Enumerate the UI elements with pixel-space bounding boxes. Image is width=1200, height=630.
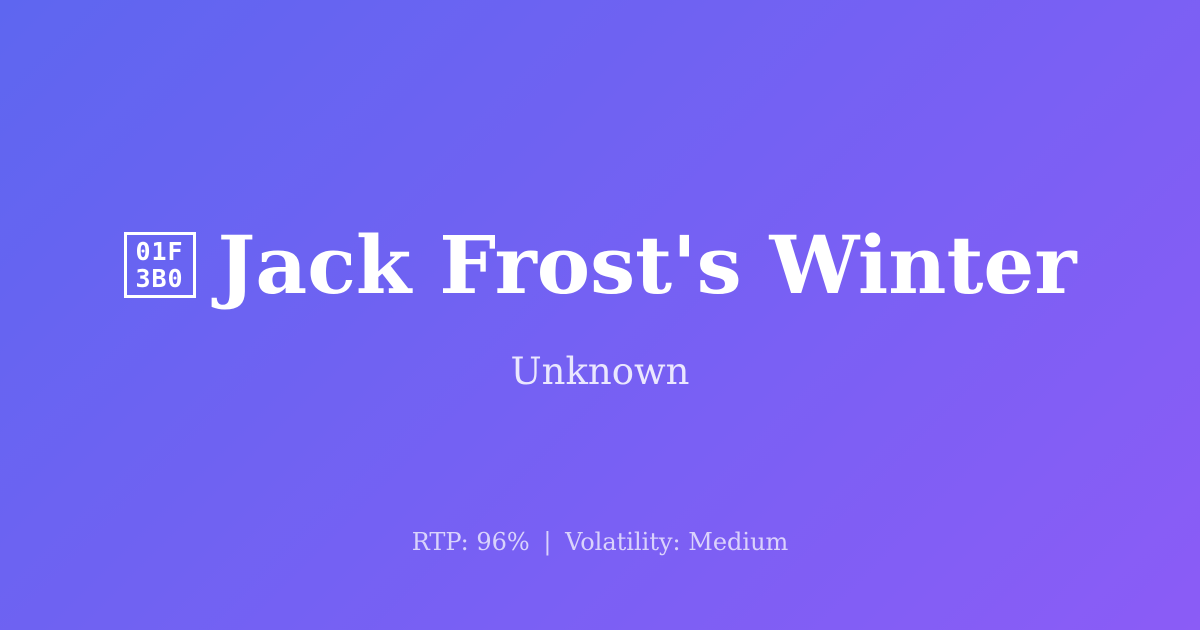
slot-machine-icon-codepoint-bottom: 3B0 (135, 265, 183, 292)
volatility-value: Volatility: Medium (565, 528, 788, 556)
rtp-value: RTP: 96% (412, 528, 530, 556)
game-promo-card: 01F 3B0 Jack Frost's Winter Unknown RTP:… (0, 0, 1200, 630)
slot-machine-icon-codepoint-top: 01F (135, 238, 183, 265)
hero-block: 01F 3B0 Jack Frost's Winter Unknown (0, 222, 1200, 395)
game-meta-line: RTP: 96% | Volatility: Medium (0, 528, 1200, 557)
game-provider-subtitle: Unknown (510, 350, 689, 394)
page-title: Jack Frost's Winter (218, 222, 1077, 308)
slot-machine-icon: 01F 3B0 (124, 232, 196, 298)
meta-separator: | (537, 528, 557, 556)
game-title-row: 01F 3B0 Jack Frost's Winter (124, 222, 1077, 308)
